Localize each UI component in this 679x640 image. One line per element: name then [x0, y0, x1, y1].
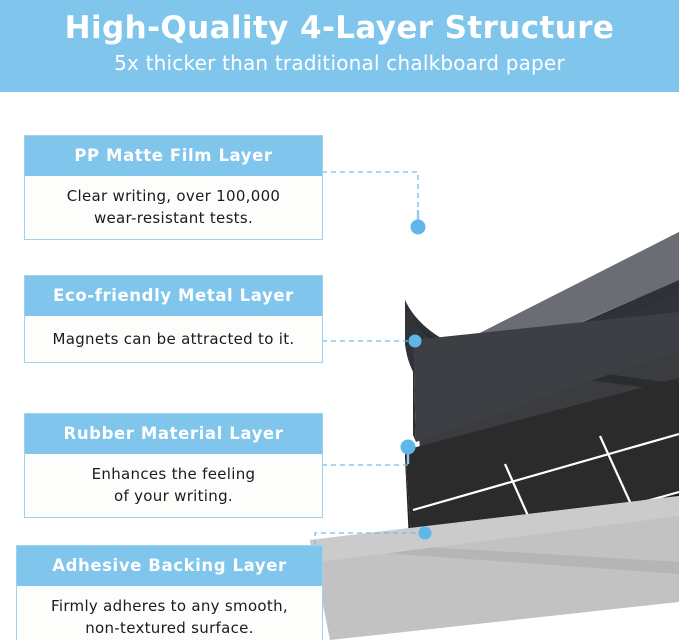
card-body-rubber-material-layer: Enhances the feeling of your writing.	[25, 454, 322, 517]
card-body-line: Clear writing, over 100,000	[31, 185, 316, 207]
connector-line-3	[322, 449, 408, 465]
card-title-adhesive-backing-layer: Adhesive Backing Layer	[17, 546, 322, 586]
marker-dot-2	[409, 335, 422, 348]
card-title-eco-friendly-metal-layer: Eco-friendly Metal Layer	[25, 276, 322, 316]
header-banner: High-Quality 4-Layer Structure 5x thicke…	[0, 0, 679, 92]
connector-line-1	[322, 172, 418, 220]
card-body-line: Firmly adheres to any smooth,	[23, 595, 316, 617]
marker-dot-4	[419, 527, 432, 540]
callout-card-pp-matte-film-layer: PP Matte Film Layer Clear writing, over …	[24, 135, 323, 240]
marker-dot-3	[401, 440, 416, 455]
marker-pp-matte-film	[411, 210, 426, 235]
card-body-adhesive-backing-layer: Firmly adheres to any smooth, non-textur…	[17, 586, 322, 640]
card-title-rubber-material-layer: Rubber Material Layer	[25, 414, 322, 454]
page-subtitle: 5x thicker than traditional chalkboard p…	[0, 47, 679, 76]
card-body-eco-friendly-metal-layer: Magnets can be attracted to it.	[25, 316, 322, 362]
card-body-line: of your writing.	[31, 485, 316, 507]
callout-card-rubber-material-layer: Rubber Material Layer Enhances the feeli…	[24, 413, 323, 518]
card-body-line: non-textured surface.	[23, 617, 316, 639]
callout-card-adhesive-backing-layer: Adhesive Backing Layer Firmly adheres to…	[16, 545, 323, 640]
infographic-page: High-Quality 4-Layer Structure 5x thicke…	[0, 0, 679, 640]
page-title: High-Quality 4-Layer Structure	[0, 0, 679, 47]
card-body-line: wear-resistant tests.	[31, 207, 316, 229]
marker-dot-1	[411, 220, 426, 235]
card-body-pp-matte-film-layer: Clear writing, over 100,000 wear-resista…	[25, 176, 322, 239]
marker-adhesive	[419, 527, 432, 540]
marker-eco-metal	[409, 335, 422, 348]
card-title-pp-matte-film-layer: PP Matte Film Layer	[25, 136, 322, 176]
callout-card-eco-friendly-metal-layer: Eco-friendly Metal Layer Magnets can be …	[24, 275, 323, 363]
card-body-line: Enhances the feeling	[31, 463, 316, 485]
card-body-line: Magnets can be attracted to it.	[31, 328, 316, 350]
